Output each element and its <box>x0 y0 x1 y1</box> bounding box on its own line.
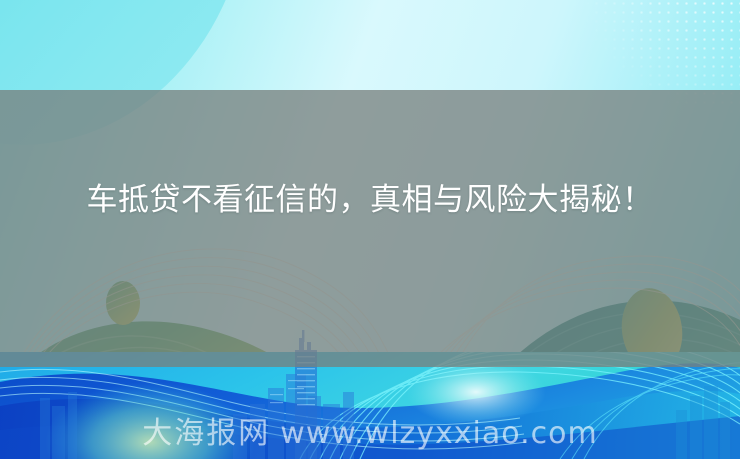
page-title: 车抵贷不看征信的，真相与风险大揭秘！ <box>0 178 740 223</box>
poster-canvas: 车抵贷不看征信的，真相与风险大揭秘！ 大海报网www.wlzyxxiao.com <box>0 0 740 459</box>
poster-artwork <box>0 0 740 459</box>
sea-waves <box>0 336 740 459</box>
